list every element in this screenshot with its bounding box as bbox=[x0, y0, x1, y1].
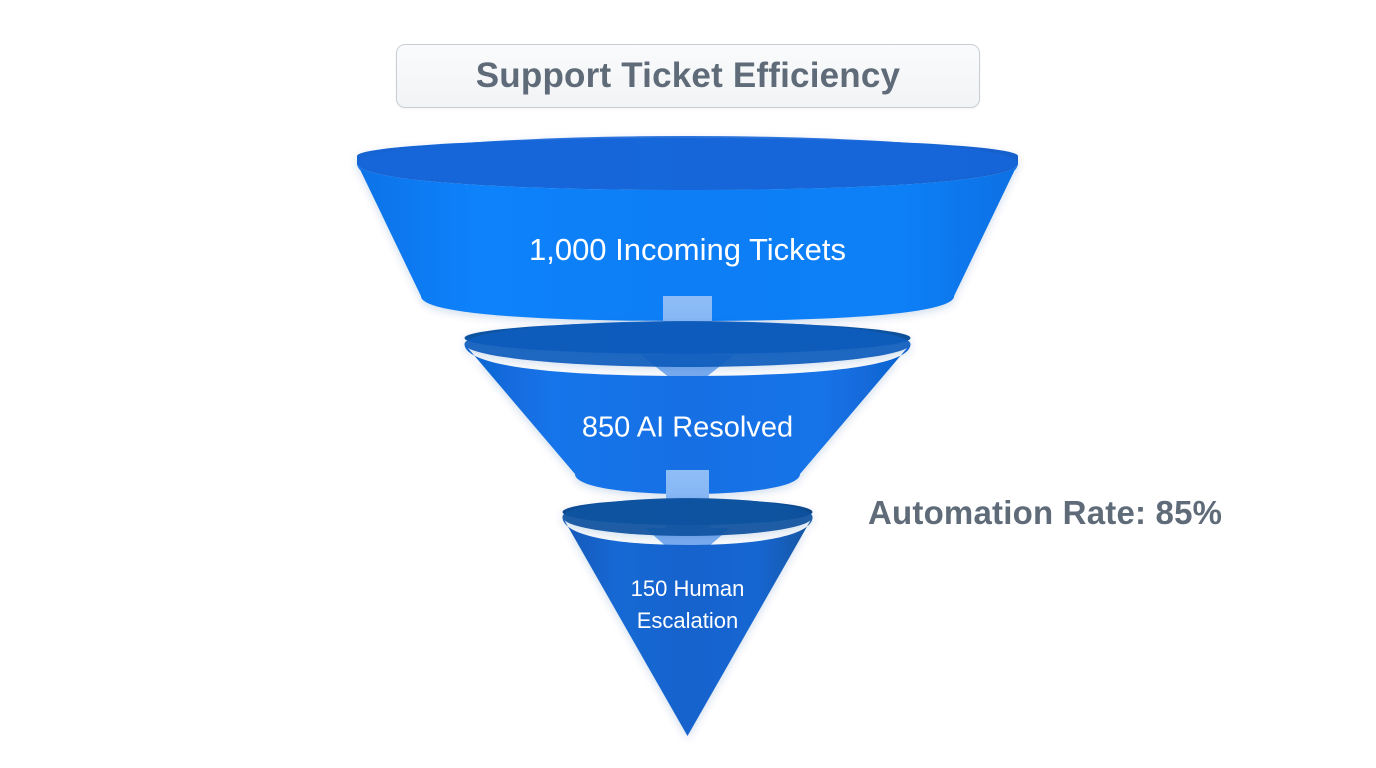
funnel-stage-2[interactable]: 850 AI Resolved bbox=[465, 321, 911, 494]
funnel-stage-3[interactable]: 150 Human Escalation bbox=[563, 498, 813, 736]
stage-3-rim-inner bbox=[563, 498, 813, 536]
funnel-stage-1[interactable]: 1,000 Incoming Tickets bbox=[357, 136, 1018, 321]
automation-rate-annotation: Automation Rate: 85% bbox=[868, 494, 1222, 532]
funnel-chart: 1,000 Incoming Tickets 850 AI Resolved 1… bbox=[0, 0, 1376, 768]
stage-3-label-line1: 150 Human bbox=[631, 576, 745, 601]
stage-2-label: 850 AI Resolved bbox=[582, 412, 793, 444]
stage-1-label: 1,000 Incoming Tickets bbox=[529, 232, 846, 267]
stage-2-rim-inner bbox=[465, 321, 911, 367]
chart-canvas: Support Ticket Efficiency bbox=[0, 0, 1376, 768]
stage-3-label-line2: Escalation bbox=[637, 608, 739, 633]
stage-1-rim-inner bbox=[357, 136, 1018, 190]
